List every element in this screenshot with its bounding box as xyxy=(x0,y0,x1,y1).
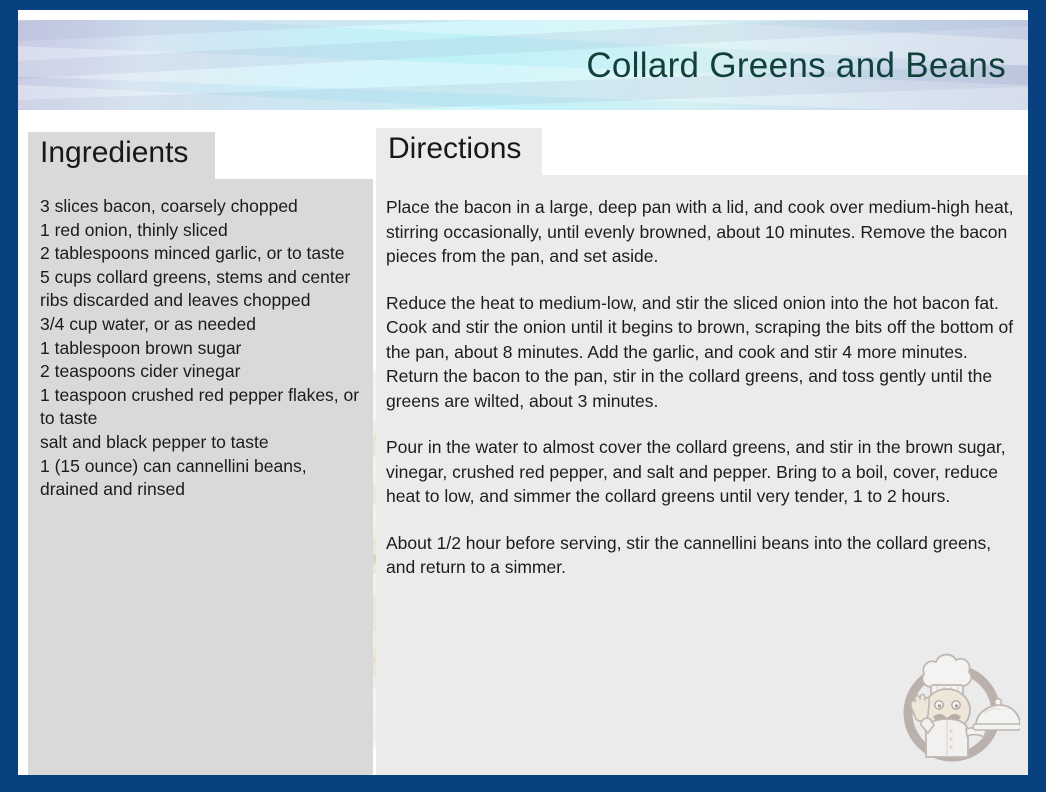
direction-step: About 1/2 hour before serving, stir the … xyxy=(386,531,1016,580)
list-item: 1 (15 ounce) can cannellini beans, drain… xyxy=(40,455,365,502)
direction-step: Pour in the water to almost cover the co… xyxy=(386,435,1016,509)
recipe-page: Collard Greens and Beans xyxy=(18,10,1028,775)
list-item: 1 tablespoon brown sugar xyxy=(40,337,365,361)
list-item: 2 teaspoons cider vinegar xyxy=(40,360,365,384)
list-item: 1 teaspoon crushed red pepper flakes, or… xyxy=(40,384,365,431)
ingredients-panel: 3 slices bacon, coarsely chopped 1 red o… xyxy=(28,179,373,775)
list-item: salt and black pepper to taste xyxy=(40,431,365,455)
ingredients-list: 3 slices bacon, coarsely chopped 1 red o… xyxy=(40,195,365,502)
list-item: 3 slices bacon, coarsely chopped xyxy=(40,195,365,219)
directions-heading: Directions xyxy=(388,132,521,166)
directions-steps: Place the bacon in a large, deep pan wit… xyxy=(386,195,1016,580)
ingredients-heading-box: Ingredients xyxy=(28,132,215,179)
ingredients-heading: Ingredients xyxy=(40,136,188,170)
page-title: Collard Greens and Beans xyxy=(586,46,1006,86)
list-item: 2 tablespoons minced garlic, or to taste xyxy=(40,242,365,266)
list-item: 3/4 cup water, or as needed xyxy=(40,313,365,337)
direction-step: Place the bacon in a large, deep pan wit… xyxy=(386,195,1016,269)
direction-step: Reduce the heat to medium-low, and stir … xyxy=(386,291,1016,414)
title-banner: Collard Greens and Beans xyxy=(18,20,1028,110)
list-item: 1 red onion, thinly sliced xyxy=(40,219,365,243)
recipe-slide: Collard Greens and Beans xyxy=(0,0,1046,792)
list-item: 5 cups collard greens, stems and center … xyxy=(40,266,365,313)
directions-panel: Place the bacon in a large, deep pan wit… xyxy=(376,175,1028,775)
directions-heading-box: Directions xyxy=(376,128,542,175)
